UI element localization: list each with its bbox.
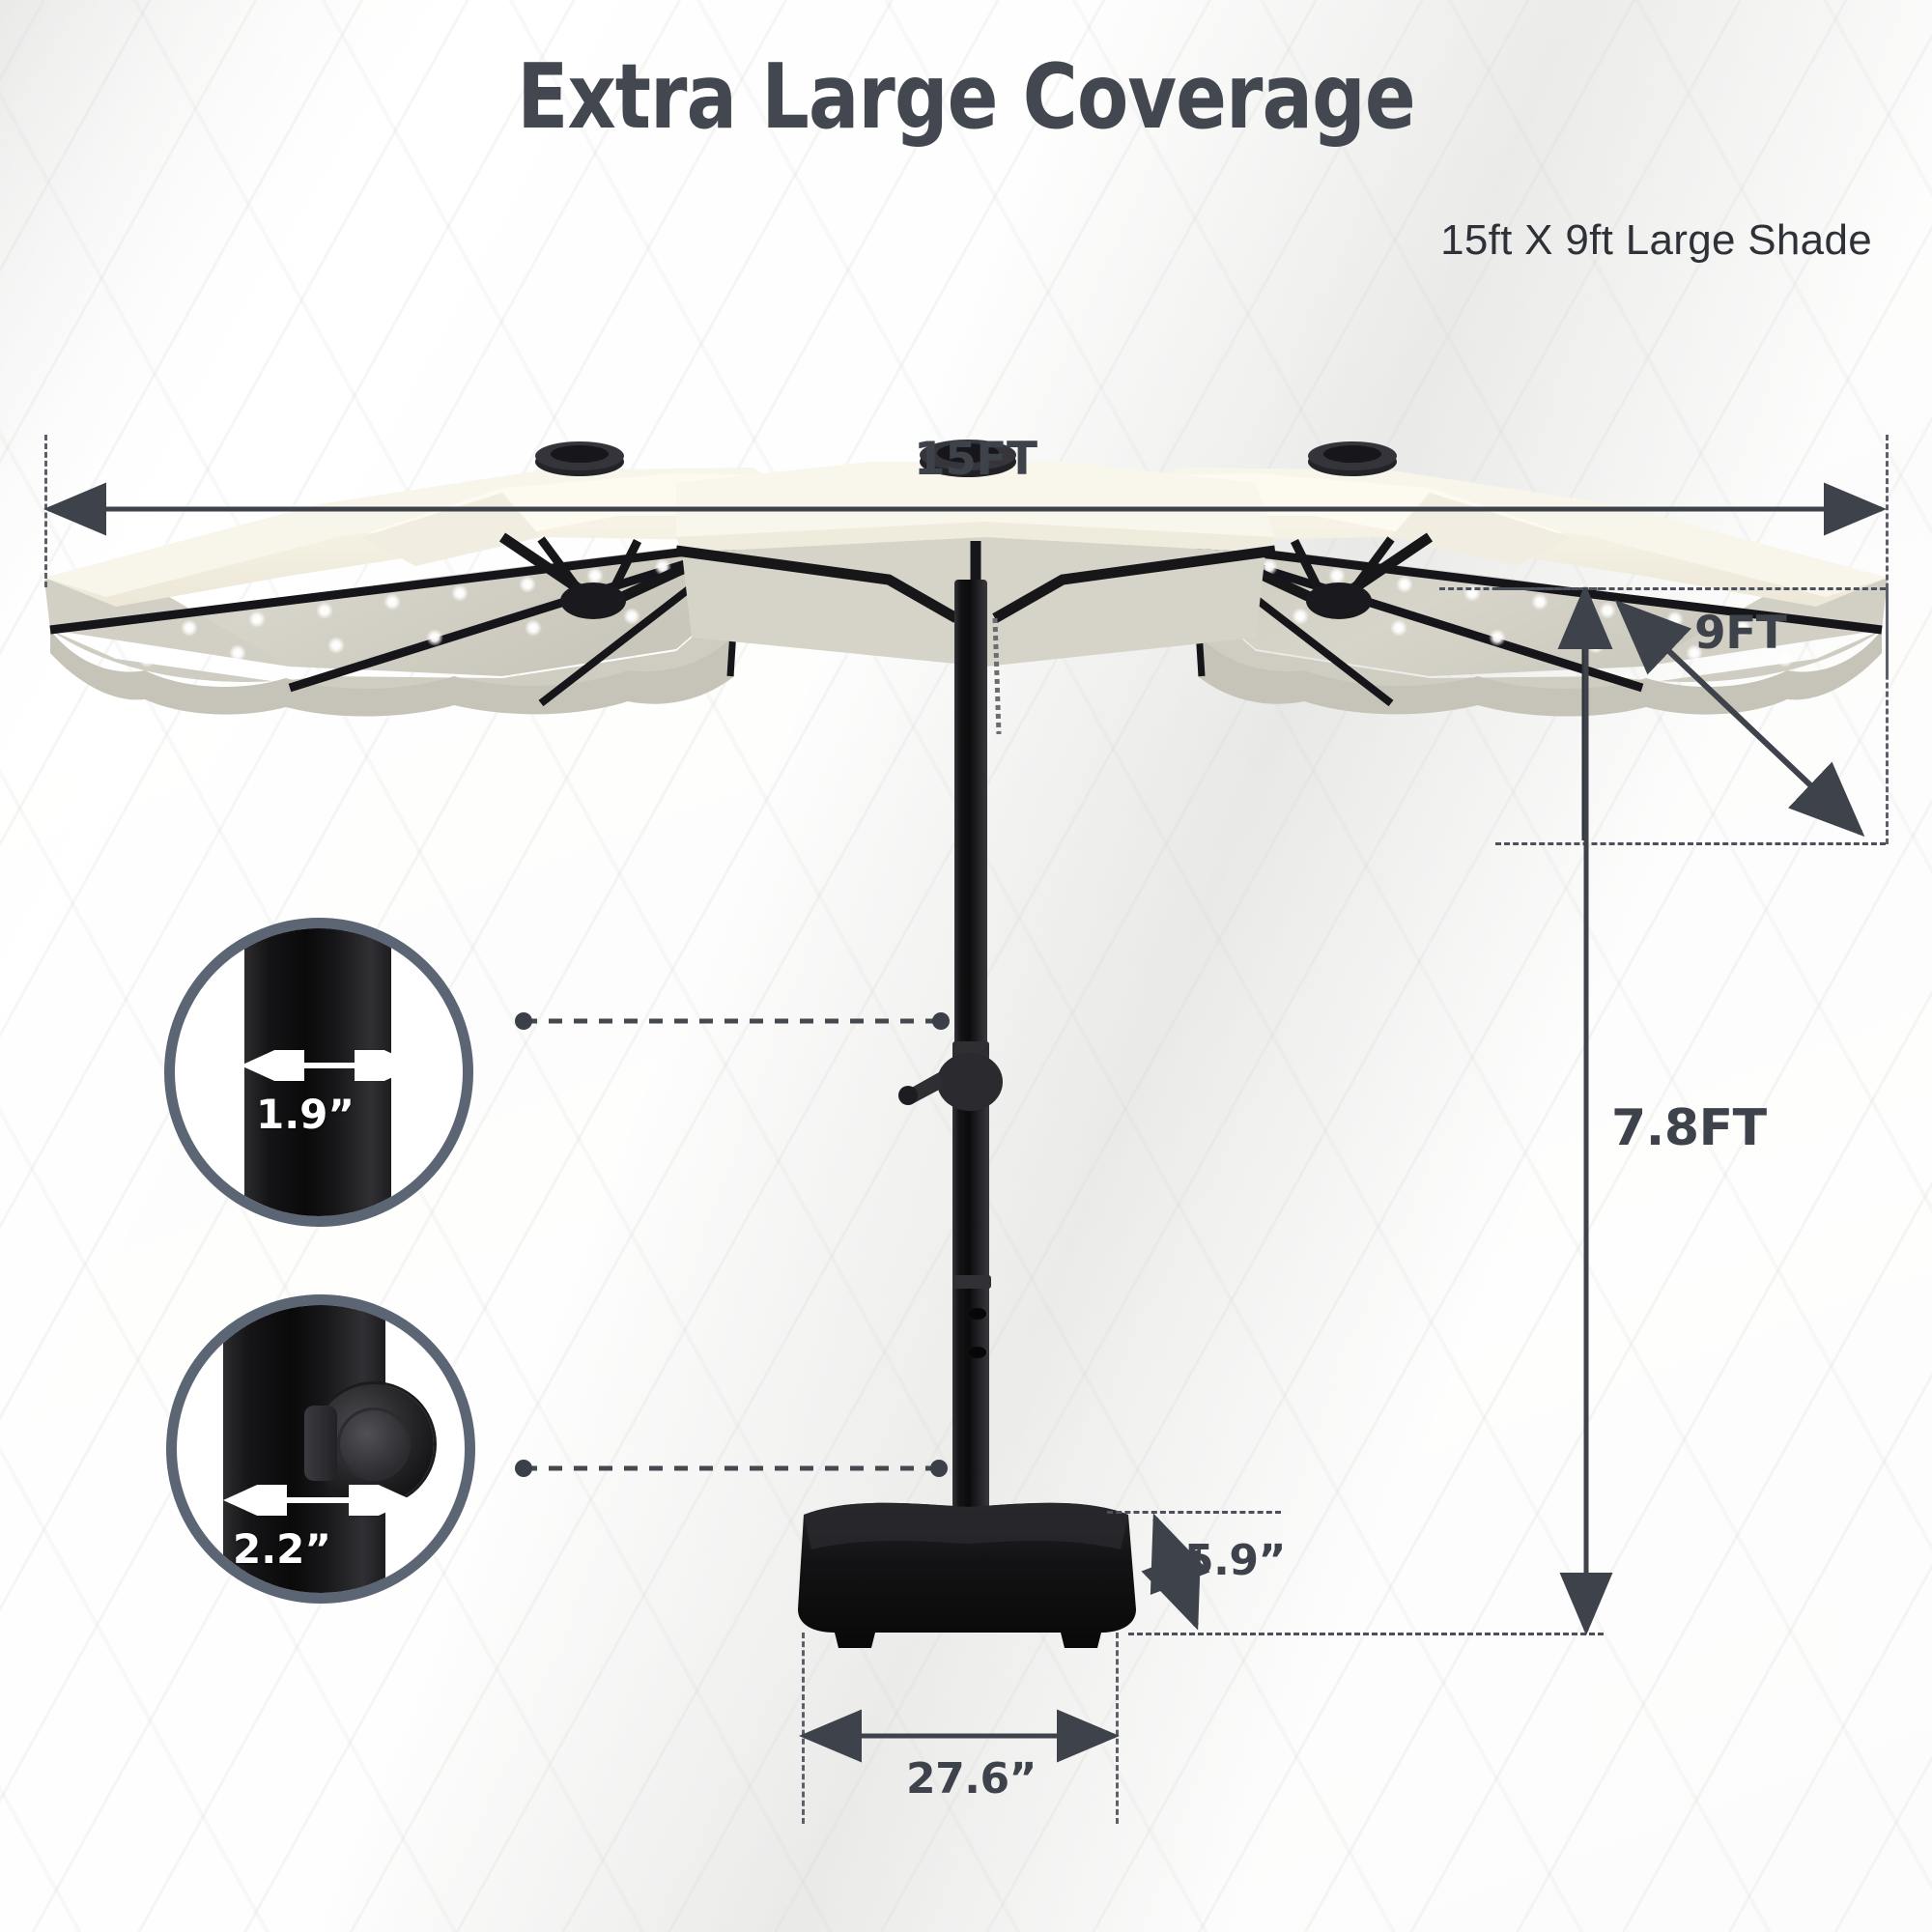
base-width-guide-right [1116, 1633, 1119, 1824]
callout-1-value: 1.9” [256, 1091, 355, 1138]
dimension-label-base-height: 5.9” [1184, 1536, 1286, 1585]
page-title: Extra Large Coverage [68, 50, 1864, 145]
base-height-guide-top [1107, 1511, 1281, 1514]
dimension-label-height: 7.8FT [1611, 1099, 1767, 1157]
dimension-label-depth: 9FT [1694, 607, 1786, 660]
dimension-label-base-width: 27.6” [906, 1754, 1037, 1804]
base-width-guide-left [802, 1633, 805, 1824]
callout-2-arrow [215, 1485, 420, 1516]
callout-1-arrow [233, 1050, 426, 1081]
crank-handle [898, 1053, 1003, 1111]
center-pole-upper [954, 580, 987, 1063]
depth-guide-right [1886, 587, 1889, 844]
page-subtitle: 15ft X 9ft Large Shade [1440, 216, 1872, 265]
solar-hub-right [1308, 441, 1397, 476]
width-guide-left [44, 435, 47, 587]
callout-2-value: 2.2” [233, 1525, 331, 1573]
height-guide-bottom [1128, 1633, 1604, 1635]
lower-pole-callout[interactable]: 2.2” [166, 1294, 475, 1604]
height-guide-top [1439, 587, 1604, 590]
depth-guide-bottom [1495, 842, 1886, 845]
pole-diameter-callout[interactable]: 1.9” [164, 918, 473, 1227]
solar-hub-left [535, 441, 624, 476]
dimension-label-width: 15FT [914, 433, 1037, 486]
umbrella-base [798, 1503, 1136, 1648]
